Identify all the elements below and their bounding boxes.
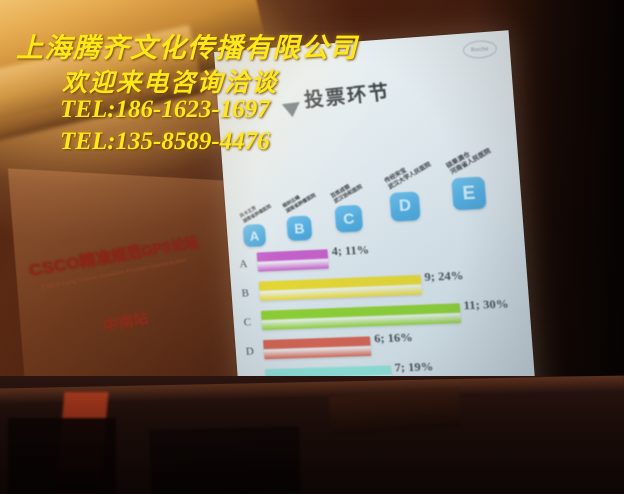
chart-value-label: 9; 24%	[424, 268, 464, 285]
option-tile-a[interactable]: A	[243, 224, 267, 247]
chart-value-label: 4; 11%	[331, 242, 369, 259]
option-tile-e[interactable]: E	[451, 177, 486, 211]
chart-bar	[259, 275, 422, 301]
chart-category-label: D	[245, 345, 254, 357]
option-tiles-row: 风卡王芳 湖南省肿瘤医院 A 榆树云峰 湖南省肿瘤医院 B 百炼成钢 武汉协和医	[232, 139, 516, 248]
sponsor-logo-icon: Roche	[462, 39, 497, 59]
foreground-dark-panel-left	[8, 418, 116, 494]
chart-value-label: 11; 30%	[463, 296, 509, 313]
chart-value-label: 7; 19%	[394, 359, 434, 376]
chart-category-label: C	[243, 316, 251, 328]
option-item-d: 传经宋宝 武汉大学人民医院 D	[389, 191, 420, 221]
option-item-b: 榆树云峰 湖南省肿瘤医院 B	[286, 216, 312, 241]
option-tile-c[interactable]: C	[334, 205, 363, 233]
slide-title: 投票环节	[303, 77, 392, 113]
chart-category-label: B	[241, 287, 249, 299]
option-tile-d[interactable]: D	[389, 191, 420, 221]
chart-bar	[261, 303, 461, 330]
chart-category-label: A	[239, 258, 248, 270]
chart-bar	[257, 249, 329, 271]
triangle-marker-icon	[282, 102, 302, 118]
backdrop-city-label: 中南站	[101, 306, 150, 337]
option-item-c: 百炼成钢 武汉协和医院 C	[334, 205, 363, 233]
foreground-dark-panel-center	[149, 426, 301, 494]
option-item-a: 风卡王芳 湖南省肿瘤医院 A	[243, 224, 267, 247]
photo-scene: CSCO精准规范GPS论坛 CSCO Lung Cancer Guideline…	[0, 0, 624, 494]
chart-value-label: 6; 16%	[374, 330, 414, 347]
chart-row: D6; 16%	[243, 329, 527, 365]
option-tile-b[interactable]: B	[286, 216, 312, 241]
chart-bar	[263, 336, 371, 359]
option-item-e: 硕果满仓 河南省人民医院 E	[451, 177, 486, 211]
